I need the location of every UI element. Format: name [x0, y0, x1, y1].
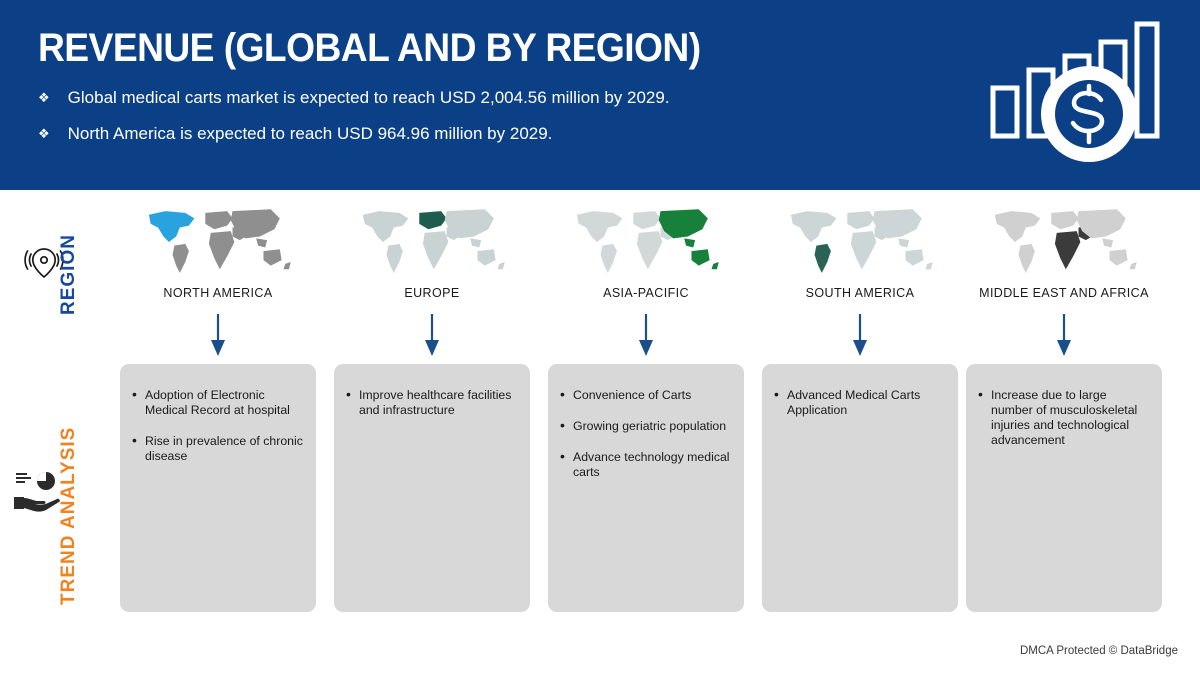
region-column: SOUTH AMERICAAdvanced Medical Carts Appl…: [762, 200, 958, 612]
trend-card-wrapper: Increase due to large number of musculos…: [966, 364, 1162, 612]
region-name-label: EUROPE: [334, 286, 530, 300]
region-column: ASIA-PACIFICConvenience of CartsGrowing …: [548, 200, 744, 612]
world-map-north-america-highlight: [138, 200, 298, 284]
world-map-asia-pacific-highlight: [566, 200, 726, 284]
header-banner: REVENUE (GLOBAL AND BY REGION) ❖ Global …: [0, 0, 1200, 190]
trend-card-wrapper: Advanced Medical Carts Application: [762, 364, 958, 612]
trend-list: Convenience of CartsGrowing geriatric po…: [560, 388, 732, 480]
down-arrow-icon: [1057, 314, 1071, 356]
trend-list: Adoption of Electronic Medical Record at…: [132, 388, 304, 464]
down-arrow-icon: [211, 314, 225, 356]
trend-card: Adoption of Electronic Medical Record at…: [120, 364, 316, 612]
trend-card-wrapper: Convenience of CartsGrowing geriatric po…: [548, 364, 744, 612]
world-map-south-america-highlight: [780, 200, 940, 284]
diamond-bullet-icon: ❖: [38, 124, 50, 144]
trend-list-item: Advance technology medical carts: [560, 450, 732, 480]
down-arrow-icon: [639, 314, 653, 356]
trend-list: Increase due to large number of musculos…: [978, 388, 1150, 448]
region-column: EUROPEImprove healthcare facilities and …: [334, 200, 530, 612]
header-bullet-text: Global medical carts market is expected …: [68, 88, 670, 108]
hand-pie-chart-icon: [12, 467, 64, 515]
region-axis-label: REGION: [58, 205, 80, 315]
trend-card: Improve healthcare facilities and infras…: [334, 364, 530, 612]
bar-chart-dollar-coin-icon: [985, 16, 1160, 176]
trend-card: Increase due to large number of musculos…: [966, 364, 1162, 612]
trend-card-wrapper: Adoption of Electronic Medical Record at…: [120, 364, 316, 612]
diamond-bullet-icon: ❖: [38, 88, 50, 108]
trend-card-wrapper: Improve healthcare facilities and infras…: [334, 364, 530, 612]
footer-copyright: DMCA Protected © DataBridge: [1020, 645, 1178, 657]
trend-list-item: Advanced Medical Carts Application: [774, 388, 946, 418]
trend-list-item: Improve healthcare facilities and infras…: [346, 388, 518, 418]
page-title: REVENUE (GLOBAL AND BY REGION): [38, 26, 701, 71]
world-map-middle-east-africa-highlight: [984, 200, 1144, 284]
region-column: NORTH AMERICAAdoption of Electronic Medi…: [120, 200, 316, 612]
region-name-label: MIDDLE EAST AND AFRICA: [966, 286, 1162, 300]
trend-list: Advanced Medical Carts Application: [774, 388, 946, 418]
down-arrow-icon: [425, 314, 439, 356]
trend-card: Advanced Medical Carts Application: [762, 364, 958, 612]
trend-analysis-axis-label: TREND ANALYSIS: [58, 420, 80, 605]
header-bullet-text: North America is expected to reach USD 9…: [68, 124, 553, 144]
world-map-europe-highlight: [352, 200, 512, 284]
header-bullet-item: ❖ Global medical carts market is expecte…: [38, 88, 670, 108]
trend-list-item: Increase due to large number of musculos…: [978, 388, 1150, 448]
trend-list-item: Convenience of Carts: [560, 388, 732, 403]
trend-list-item: Adoption of Electronic Medical Record at…: [132, 388, 304, 418]
trend-card: Convenience of CartsGrowing geriatric po…: [548, 364, 744, 612]
region-name-label: ASIA-PACIFIC: [548, 286, 744, 300]
trend-list: Improve healthcare facilities and infras…: [346, 388, 518, 418]
header-bullet-item: ❖ North America is expected to reach USD…: [38, 124, 552, 144]
trend-list-item: Rise in prevalence of chronic disease: [132, 434, 304, 464]
region-name-label: SOUTH AMERICA: [762, 286, 958, 300]
region-name-label: NORTH AMERICA: [120, 286, 316, 300]
region-column: MIDDLE EAST AND AFRICAIncrease due to la…: [966, 200, 1162, 612]
down-arrow-icon: [853, 314, 867, 356]
trend-list-item: Growing geriatric population: [560, 419, 732, 434]
